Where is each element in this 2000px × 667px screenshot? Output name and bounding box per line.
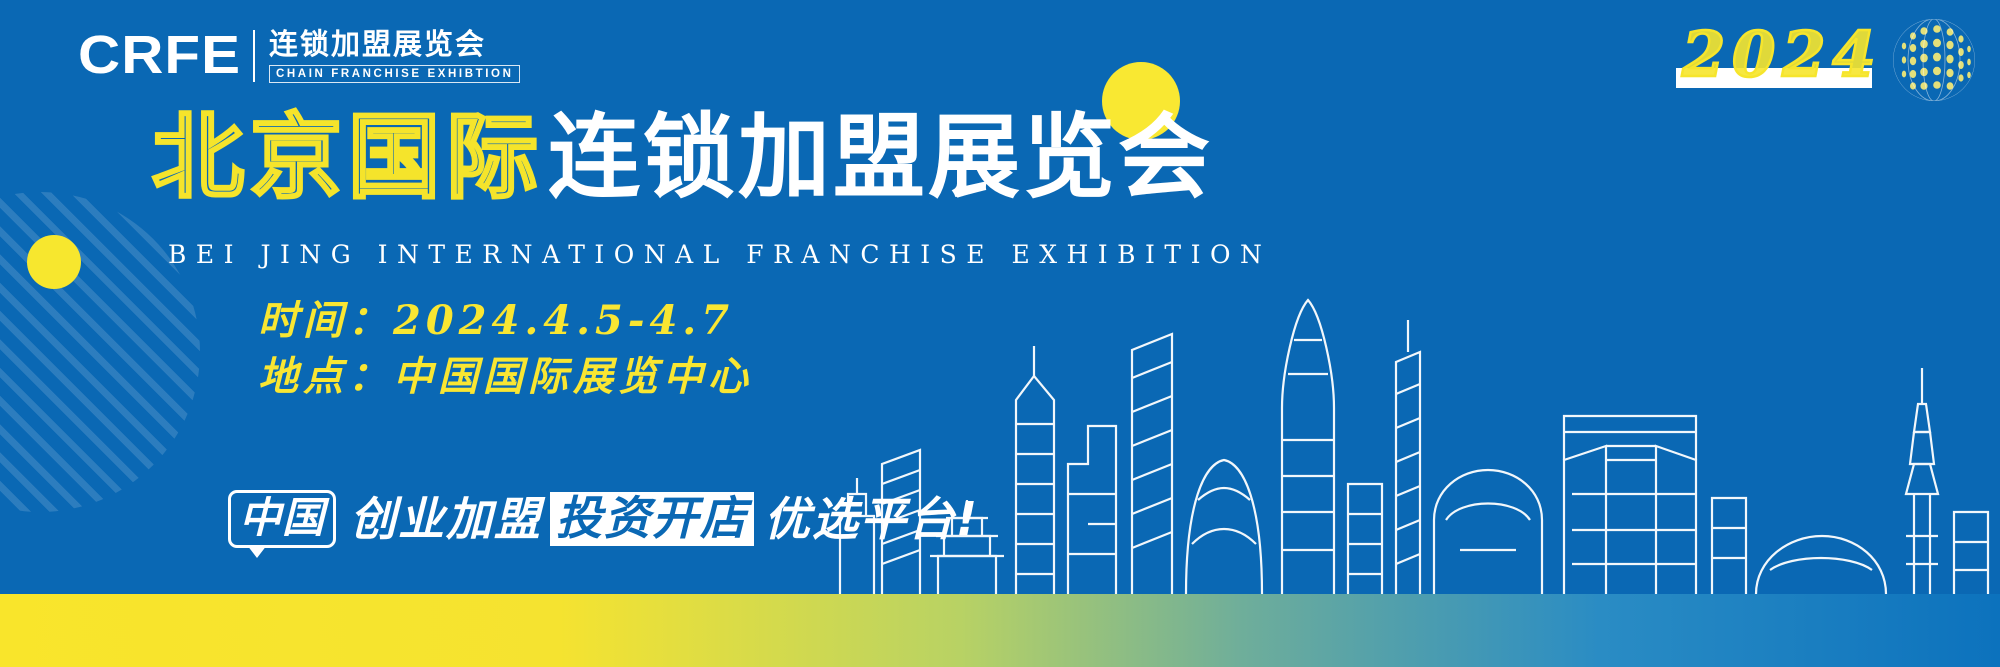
event-venue: 地点：中国国际展览中心 [258,352,753,402]
tagline-chip: 中国 [228,490,336,548]
dotted-globe-icon [1892,18,1976,102]
logo-chinese-name: 连锁加盟展览会 [269,28,520,60]
beijing-skyline-illustration [820,164,2000,594]
tagline-part-one: 创业加盟 [350,494,542,544]
title-english: BEI JING INTERNATIONAL FRANCHISE EXHIBIT… [168,240,1271,269]
title-highlight: 北京国际 [152,112,544,204]
crfe-logo: CRFE 连锁加盟展览会 CHAIN FRANCHISE EXHIBTION [78,28,520,84]
tagline-chip-label: 中国 [239,493,325,542]
event-date: 时间：2024.4.5-4.7 [258,296,753,346]
tagline-part-two: 优选平台! [764,494,979,544]
year-label: 2024 [1682,22,1883,88]
event-info: 时间：2024.4.5-4.7 地点：中国国际展览中心 [258,296,753,408]
exhibition-banner: CRFE 连锁加盟展览会 CHAIN FRANCHISE EXHIBTION 2… [0,0,2000,667]
page-title: 北京国际 连锁加盟展览会 [152,112,1213,204]
logo-acronym: CRFE [78,28,256,84]
gradient-stripe [0,594,2000,667]
yellow-dot-decoration [27,235,81,289]
year-badge: 2024 [1676,26,1872,92]
tagline-highlight: 投资开店 [550,492,754,546]
logo-english-name: CHAIN FRANCHISE EXHIBTION [269,65,520,83]
tagline: 中国 创业加盟 投资开店 优选平台! [228,490,979,548]
title-main: 连锁加盟展览会 [548,112,1213,204]
